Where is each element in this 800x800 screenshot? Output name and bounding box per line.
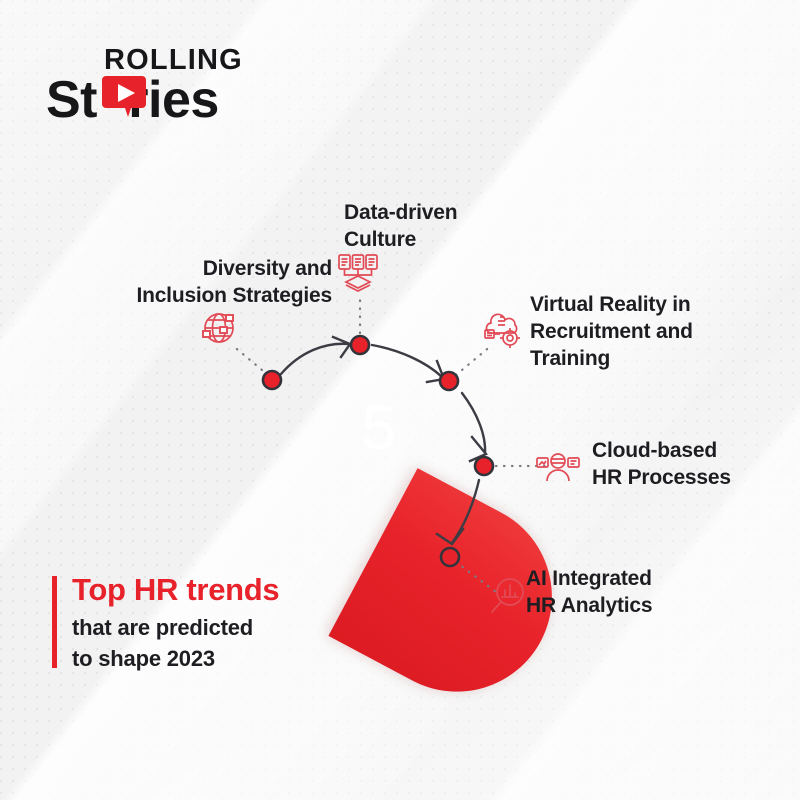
label-ai-analytics: AI Integrated HR Analytics xyxy=(526,566,756,620)
label-virtual-reality-line1: Virtual Reality in xyxy=(530,292,780,319)
arrow-head-1 xyxy=(333,337,350,357)
node-diversity xyxy=(263,371,281,389)
label-ai-analytics-line2: HR Analytics xyxy=(526,593,756,620)
brand-logo[interactable]: ROLLING Stories xyxy=(46,44,306,140)
label-data-culture-line2: Culture xyxy=(344,227,554,254)
headline-sub-line1: that are predicted xyxy=(72,613,402,642)
person-screens-icon xyxy=(536,448,580,491)
data-documents-icon xyxy=(336,252,380,303)
label-data-culture-line1: Data-driven xyxy=(344,200,554,227)
arrow-path-3 xyxy=(462,393,485,453)
node-virtual-reality xyxy=(440,372,458,390)
headline-main: Top HR trends xyxy=(72,572,402,608)
label-virtual-reality-line3: Training xyxy=(530,346,780,373)
headline-sub-line2: to shape 2023 xyxy=(72,644,402,673)
node-cloud-hr xyxy=(475,457,493,475)
arrow-path-1 xyxy=(281,344,349,374)
label-cloud-hr: Cloud-based HR Processes xyxy=(592,438,792,492)
logo-main-prefix: St xyxy=(46,71,97,129)
node-data-culture xyxy=(351,336,369,354)
globe-network-icon xyxy=(198,308,240,355)
headline-block: Top HR trends that are predicted to shap… xyxy=(52,572,402,673)
label-ai-analytics-line1: AI Integrated xyxy=(526,566,756,593)
label-diversity-line1: Diversity and xyxy=(58,256,332,283)
arrow-head-3 xyxy=(470,437,486,461)
arrow-head-2 xyxy=(427,361,444,382)
label-diversity: Diversity and Inclusion Strategies xyxy=(58,256,332,310)
magnifier-chart-icon xyxy=(488,576,528,621)
infographic-canvas: ROLLING Stories 5 xyxy=(0,0,800,800)
label-cloud-hr-line2: HR Processes xyxy=(592,465,792,492)
label-data-culture: Data-driven Culture xyxy=(344,200,554,254)
arrow-path-2 xyxy=(372,345,442,377)
label-cloud-hr-line1: Cloud-based xyxy=(592,438,792,465)
headline-accent-bar xyxy=(52,576,57,668)
cloud-vr-icon xyxy=(480,306,524,355)
label-virtual-reality: Virtual Reality in Recruitment and Train… xyxy=(530,292,780,373)
center-number: 5 xyxy=(344,398,414,460)
label-virtual-reality-line2: Recruitment and xyxy=(530,319,780,346)
label-diversity-line2: Inclusion Strategies xyxy=(58,283,332,310)
play-bubble-icon xyxy=(101,74,147,118)
